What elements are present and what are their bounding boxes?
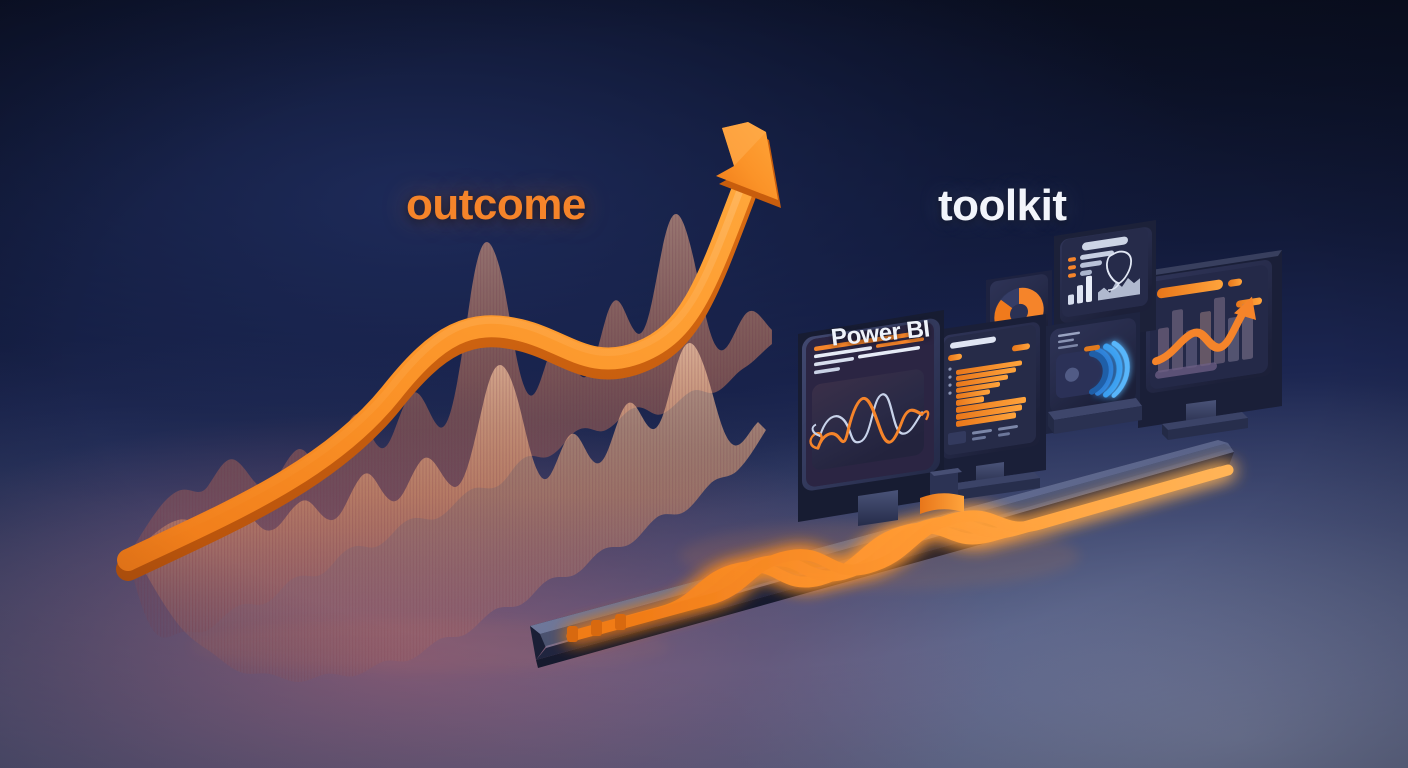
- hero-illustration-canvas: outcome toolkit Power BI: [0, 0, 1408, 768]
- label-outcome: outcome: [406, 183, 586, 227]
- label-toolkit: toolkit: [938, 184, 1066, 228]
- vignette-overlay: [0, 0, 1408, 768]
